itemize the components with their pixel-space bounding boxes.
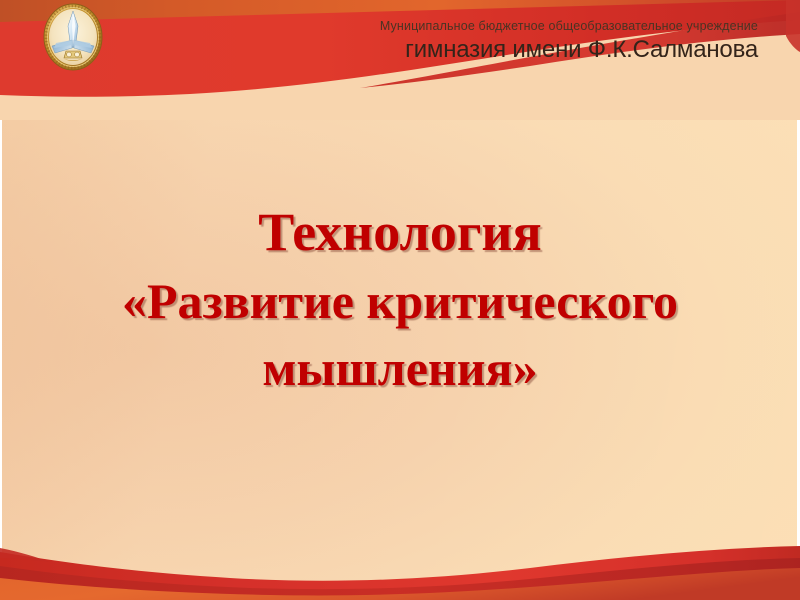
- institution-type-label: Муниципальное бюджетное общеобразователь…: [380, 20, 758, 33]
- emblem-base-dot-right: [75, 52, 80, 57]
- emblem-base-dot-left: [67, 52, 72, 57]
- school-emblem-logo: [42, 2, 104, 72]
- institution-name-block: Муниципальное бюджетное общеобразователь…: [380, 20, 758, 62]
- slide-title-line-1: Технология: [0, 196, 800, 268]
- footer-wave-band: [0, 490, 800, 600]
- slide-title-line-3: мышления»: [0, 335, 800, 402]
- institution-title-label: гимназия имени Ф.К.Салманова: [380, 38, 758, 62]
- slide-title-line-2: «Развитие критического: [0, 268, 800, 335]
- slide-title-block: Технология «Развитие критического мышлен…: [0, 196, 800, 402]
- presentation-slide: Муниципальное бюджетное общеобразователь…: [0, 0, 800, 600]
